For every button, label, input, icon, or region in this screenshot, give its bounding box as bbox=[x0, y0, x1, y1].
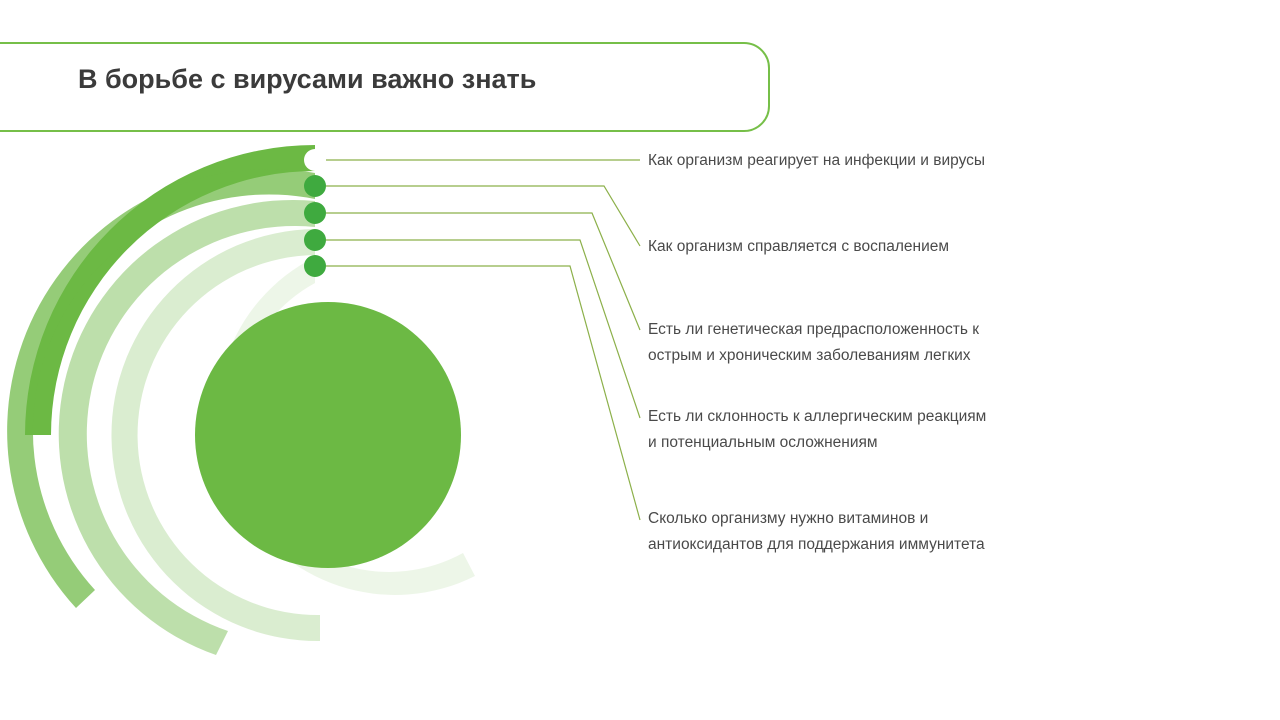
page-title: В борьбе с вирусами важно знать bbox=[78, 64, 738, 95]
list-item-3-line-1: Есть ли генетическая предрасположенность… bbox=[648, 317, 1148, 343]
list-item-4-line-2: и потенциальным осложнениям bbox=[648, 430, 1148, 456]
list-item-2: Как организм справляется с воспалением bbox=[648, 234, 1148, 260]
marker-dot-2[interactable] bbox=[304, 175, 326, 197]
list-item-5-line-1: Сколько организму нужно витаминов и bbox=[648, 506, 1148, 532]
list-item-5-line-2: антиоксидантов для поддержания иммунитет… bbox=[648, 532, 1148, 558]
hub-circle bbox=[195, 302, 461, 568]
list-item-2-line-1: Как организм справляется с воспалением bbox=[648, 234, 1148, 260]
slide-canvas: В борьбе с вирусами важно знать Как орга… bbox=[0, 0, 1280, 720]
list-item-1-line-1: Как организм реагирует на инфекции и вир… bbox=[648, 148, 1148, 174]
marker-dot-1[interactable] bbox=[304, 149, 326, 171]
list-item-3: Есть ли генетическая предрасположенность… bbox=[648, 317, 1148, 369]
list-item-4-line-1: Есть ли склонность к аллергическим реакц… bbox=[648, 404, 1148, 430]
marker-dot-4[interactable] bbox=[304, 229, 326, 251]
list-item-3-line-2: острым и хроническим заболеваниям легких bbox=[648, 343, 1148, 369]
list-item-5: Сколько организму нужно витаминов и анти… bbox=[648, 506, 1148, 558]
marker-dot-3[interactable] bbox=[304, 202, 326, 224]
marker-dot-5[interactable] bbox=[304, 255, 326, 277]
list-item-4: Есть ли склонность к аллергическим реакц… bbox=[648, 404, 1148, 456]
list-item-1: Как организм реагирует на инфекции и вир… bbox=[648, 148, 1148, 174]
